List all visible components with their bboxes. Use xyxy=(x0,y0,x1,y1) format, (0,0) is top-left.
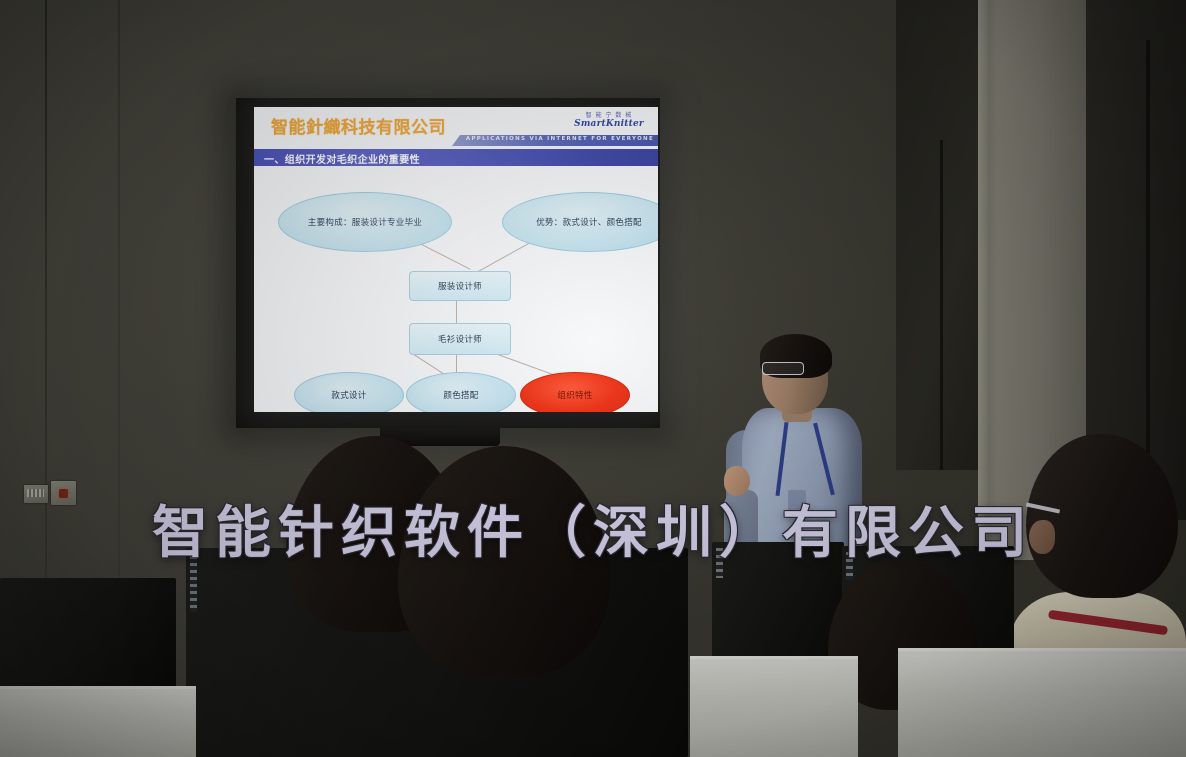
section-heading-text: 一、组织开发对毛织企业的重要性 xyxy=(264,151,420,166)
monitor-vent xyxy=(716,548,723,578)
smartknitter-logo: 智 能 宁 数 械 SmartKnitter xyxy=(566,110,652,129)
diagram-node-label: 主要构成：服装设计专业毕业 xyxy=(308,216,422,228)
power-socket-led-icon xyxy=(59,489,68,498)
monitor-back-left xyxy=(712,542,844,660)
diagram-node-sweater-designer: 毛衫设计师 xyxy=(409,323,511,355)
desk-left xyxy=(0,686,196,757)
diagram-node-advantage: 优势：款式设计、颜色搭配 xyxy=(502,192,658,252)
diagram-node-label: 服装设计师 xyxy=(438,280,482,292)
presenter-badge xyxy=(788,490,806,514)
pillar-edge xyxy=(978,0,988,560)
logo-chinese-text: 智 能 宁 数 械 xyxy=(566,110,652,119)
slide-header: 智能針織科技有限公司 智 能 宁 数 械 SmartKnitter APPLIC… xyxy=(254,107,658,149)
wall-seam xyxy=(45,0,47,600)
diagram-node-color-matching: 颜色搭配 xyxy=(406,372,516,412)
audience-right-ear xyxy=(1029,520,1055,554)
diagram-node-main-composition: 主要构成：服装设计专业毕业 xyxy=(278,192,452,252)
monitor-far-left xyxy=(0,578,176,690)
desk-edge xyxy=(0,686,196,689)
desk-edge xyxy=(898,648,1186,651)
diagram-node-style-design: 款式设计 xyxy=(294,372,404,412)
recess-frame xyxy=(940,140,943,470)
door-frame xyxy=(1146,40,1150,460)
desk-right xyxy=(898,648,1186,757)
presenter-hand xyxy=(724,466,750,496)
network-jack-slot-icon xyxy=(27,489,44,497)
diagram-node-label: 优势：款式设计、颜色搭配 xyxy=(536,216,642,228)
diagram-node-label: 款式设计 xyxy=(331,389,366,401)
logo-english-text: SmartKnitter xyxy=(566,119,652,129)
presenter-glasses-icon xyxy=(762,362,804,375)
monitor-vent xyxy=(846,552,853,580)
diagram-node-structure-traits: 组织特性 xyxy=(520,372,630,412)
slide-title: 智能針織科技有限公司 xyxy=(271,113,446,138)
slide-diagram: 主要构成：服装设计专业毕业 优势：款式设计、颜色搭配 服装设计师 毛衫设计师 款… xyxy=(254,166,658,412)
diagram-node-label: 颜色搭配 xyxy=(443,389,478,401)
diagram-node-apparel-designer: 服装设计师 xyxy=(409,271,511,301)
diagram-connector xyxy=(456,299,457,323)
presentation-room-photo: 智能針織科技有限公司 智 能 宁 数 械 SmartKnitter APPLIC… xyxy=(0,0,1186,757)
projected-slide: 智能針織科技有限公司 智 能 宁 数 械 SmartKnitter APPLIC… xyxy=(254,107,658,412)
monitor-vent xyxy=(190,556,197,612)
desk-edge xyxy=(690,656,858,659)
diagram-node-label: 组织特性 xyxy=(557,389,592,401)
desk-center xyxy=(690,656,858,757)
tagline-text: APPLICATIONS VIA INTERNET FOR EVERYONE xyxy=(466,136,654,142)
diagram-node-label: 毛衫设计师 xyxy=(438,333,482,345)
